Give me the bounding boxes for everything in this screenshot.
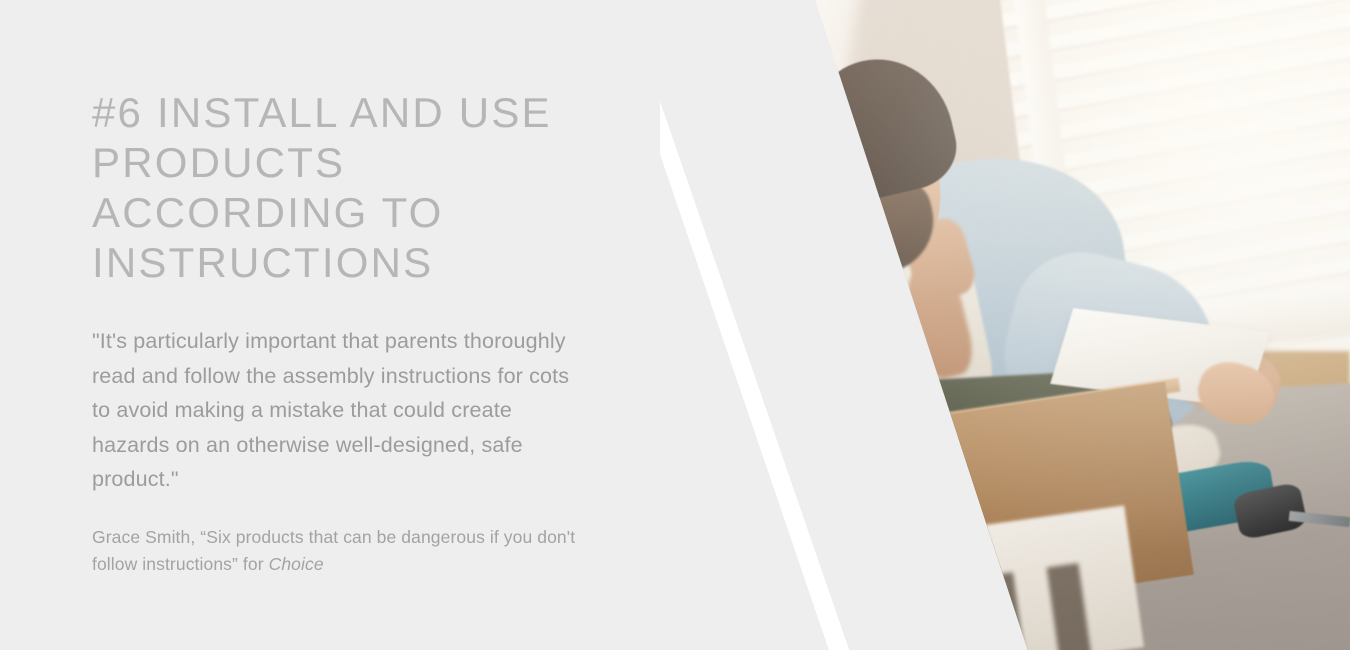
cot-connector-block bbox=[724, 386, 790, 433]
attribution-author: Grace Smith, “Six products that can be d… bbox=[92, 527, 575, 574]
slide-canvas: #6 Install and use products according to… bbox=[0, 0, 1350, 650]
page-title: #6 Install and use products according to… bbox=[92, 88, 592, 288]
attribution-publication: Choice bbox=[269, 554, 324, 574]
tape-measure-strip bbox=[637, 379, 983, 441]
knee bbox=[797, 408, 960, 534]
cot-slats bbox=[590, 560, 1111, 650]
quote-attribution: Grace Smith, “Six products that can be d… bbox=[92, 497, 582, 578]
left-sleeve bbox=[700, 254, 937, 461]
left-forearm bbox=[646, 372, 770, 453]
text-panel: #6 Install and use products according to… bbox=[0, 0, 660, 650]
text-block: #6 Install and use products according to… bbox=[92, 88, 592, 578]
photo-panel bbox=[590, 0, 1350, 650]
man-figure bbox=[590, 0, 1350, 650]
door-frame bbox=[740, 0, 850, 436]
forearm-tattoo bbox=[670, 386, 715, 427]
photo-scene bbox=[590, 0, 1350, 650]
quote-text: "It's particularly important that parent… bbox=[92, 288, 572, 497]
white-chair bbox=[675, 0, 778, 306]
